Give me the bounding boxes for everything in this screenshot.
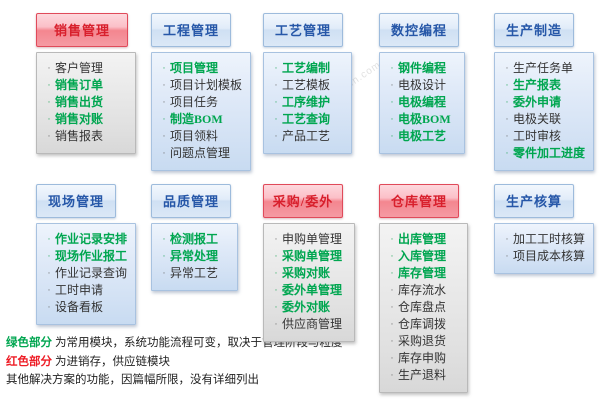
bullet-icon: · — [158, 64, 170, 73]
list-item[interactable]: ·作业记录查询 — [43, 265, 129, 282]
list-item-label: 异常处理 — [170, 250, 231, 262]
list-item-label: 电极工艺 — [398, 130, 458, 142]
bullet-icon: · — [158, 81, 170, 90]
list-item-label: 生产任务单 — [513, 62, 587, 74]
module-header-shopfloor[interactable]: 现场管理 — [36, 184, 116, 218]
list-item-label: 生产报表 — [513, 79, 587, 91]
list-item-label: 项目领料 — [170, 130, 244, 142]
list-item[interactable]: ·采购单管理 — [270, 248, 348, 265]
list-item-label: 项目计划模板 — [170, 79, 244, 91]
list-item-label: 客户管理 — [55, 62, 129, 74]
bullet-icon: · — [501, 132, 513, 141]
list-item-label: 仓库盘点 — [398, 301, 461, 313]
module-header-costing[interactable]: 生产核算 — [494, 184, 574, 218]
bullet-icon: · — [158, 149, 170, 158]
list-item[interactable]: ·生产退料 — [386, 367, 461, 384]
list-item-label: 零件加工进度 — [513, 147, 587, 159]
module-header-manufacturing[interactable]: 生产制造 — [494, 13, 574, 47]
bullet-icon: · — [270, 320, 282, 329]
list-item-label: 生产退料 — [398, 369, 461, 381]
module-sales: 销售管理·客户管理·销售订单·销售出货·销售对账·销售报表 — [36, 13, 136, 154]
bullet-icon: · — [43, 286, 55, 295]
list-item[interactable]: ·委外申请 — [501, 94, 587, 111]
module-body-purchasing: ·申购单管理·采购单管理·采购对账·委外单管理·委外对账·供应商管理 — [263, 223, 355, 342]
list-item-label: 工艺模板 — [282, 79, 345, 91]
list-item-label: 电极编程 — [398, 96, 458, 108]
bullet-icon: · — [386, 303, 398, 312]
bullet-icon: · — [386, 98, 398, 107]
bullet-icon: · — [501, 149, 513, 158]
bullet-icon: · — [158, 269, 170, 278]
bullet-icon: · — [386, 64, 398, 73]
module-body-manufacturing: ·生产任务单·生产报表·委外申请·电极关联·工时审核·零件加工进度 — [494, 52, 594, 171]
list-item[interactable]: ·作业记录安排 — [43, 231, 129, 248]
module-warehouse: 仓库管理·出库管理·入库管理·库存管理·库存流水·仓库盘点·仓库调拨·采购退货·… — [379, 184, 468, 393]
module-header-engineering[interactable]: 工程管理 — [151, 13, 231, 47]
list-item[interactable]: ·委外单管理 — [270, 282, 348, 299]
list-item[interactable]: ·销售订单 — [43, 77, 129, 94]
list-item[interactable]: ·电极关联 — [501, 111, 587, 128]
module-cnc: 数控编程·钢件编程·电极设计·电极编程·电极BOM·电极工艺 — [379, 13, 465, 154]
list-item[interactable]: ·检测报工 — [158, 231, 231, 248]
bullet-icon: · — [501, 64, 513, 73]
bullet-icon: · — [270, 286, 282, 295]
list-item[interactable]: ·工时申请 — [43, 282, 129, 299]
list-item-label: 项目任务 — [170, 96, 244, 108]
list-item[interactable]: ·出库管理 — [386, 231, 461, 248]
legend-key: 绿色部分 — [6, 338, 52, 350]
list-item[interactable]: ·电极BOM — [386, 111, 458, 128]
list-item-label: 电极关联 — [513, 113, 587, 125]
list-item[interactable]: ·库存管理 — [386, 265, 461, 282]
list-item-label: 检测报工 — [170, 233, 231, 245]
bullet-icon: · — [43, 252, 55, 261]
module-process: 工艺管理·工艺编制·工艺模板·工序维护·工艺查询·产品工艺 — [263, 13, 352, 154]
legend-text: 为进销存，供应链模块 — [55, 357, 170, 369]
module-manufacturing: 生产制造·生产任务单·生产报表·委外申请·电极关联·工时审核·零件加工进度 — [494, 13, 594, 171]
module-body-warehouse: ·出库管理·入库管理·库存管理·库存流水·仓库盘点·仓库调拨·采购退货·库存申购… — [379, 223, 468, 393]
list-item-label: 库存流水 — [398, 284, 461, 296]
bullet-icon: · — [158, 115, 170, 124]
list-item[interactable]: ·仓库盘点 — [386, 299, 461, 316]
list-item-label: 产品工艺 — [282, 130, 345, 142]
module-header-purchasing[interactable]: 采购/委外 — [263, 184, 343, 218]
list-item-label: 设备看板 — [55, 301, 129, 313]
list-item-label: 项目成本核算 — [513, 250, 587, 262]
bullet-icon: · — [43, 235, 55, 244]
list-item-label: 库存管理 — [398, 267, 461, 279]
list-item-label: 销售订单 — [55, 79, 129, 91]
bullet-icon: · — [43, 98, 55, 107]
list-item[interactable]: ·工艺编制 — [270, 60, 345, 77]
list-item[interactable]: ·工艺查询 — [270, 111, 345, 128]
list-item-label: 仓库调拨 — [398, 318, 461, 330]
list-item-label: 委外单管理 — [282, 284, 348, 296]
bullet-icon: · — [270, 115, 282, 124]
module-purchasing: 采购/委外·申购单管理·采购单管理·采购对账·委外单管理·委外对账·供应商管理 — [263, 184, 355, 342]
list-item[interactable]: ·销售出货 — [43, 94, 129, 111]
list-item[interactable]: ·工艺模板 — [270, 77, 345, 94]
list-item-label: 采购对账 — [282, 267, 348, 279]
bullet-icon: · — [386, 81, 398, 90]
module-header-warehouse[interactable]: 仓库管理 — [379, 184, 459, 218]
list-item-label: 工序维护 — [282, 96, 345, 108]
bullet-icon: · — [158, 132, 170, 141]
list-item-label: 异常工艺 — [170, 267, 231, 279]
list-item-label: 销售对账 — [55, 113, 129, 125]
module-body-shopfloor: ·作业记录安排·现场作业报工·作业记录查询·工时申请·设备看板 — [36, 223, 136, 325]
list-item[interactable]: ·入库管理 — [386, 248, 461, 265]
bullet-icon: · — [270, 252, 282, 261]
list-item-label: 入库管理 — [398, 250, 461, 262]
module-header-sales[interactable]: 销售管理 — [36, 13, 128, 47]
module-quality: 品质管理·检测报工·异常处理·异常工艺 — [151, 184, 238, 291]
bullet-icon: · — [43, 64, 55, 73]
bullet-icon: · — [501, 81, 513, 90]
diagram-canvas: 云易云软件yun.com 销售管理·客户管理·销售订单·销售出货·销售对账·销售… — [0, 0, 600, 400]
bullet-icon: · — [158, 252, 170, 261]
list-item-label: 作业记录查询 — [55, 267, 129, 279]
list-item-label: 加工工时核算 — [513, 233, 587, 245]
bullet-icon: · — [43, 132, 55, 141]
bullet-icon: · — [270, 235, 282, 244]
list-item[interactable]: ·项目成本核算 — [501, 248, 587, 265]
list-item-label: 库存申购 — [398, 352, 461, 364]
list-item[interactable]: ·项目管理 — [158, 60, 244, 77]
list-item[interactable]: ·客户管理 — [43, 60, 129, 77]
module-shopfloor: 现场管理·作业记录安排·现场作业报工·作业记录查询·工时申请·设备看板 — [36, 184, 136, 325]
list-item-label: 现场作业报工 — [55, 250, 129, 262]
list-item[interactable]: ·供应商管理 — [270, 316, 348, 333]
bullet-icon: · — [270, 269, 282, 278]
bullet-icon: · — [270, 81, 282, 90]
bullet-icon: · — [270, 98, 282, 107]
list-item[interactable]: ·采购对账 — [270, 265, 348, 282]
bullet-icon: · — [501, 252, 513, 261]
module-header-cnc[interactable]: 数控编程 — [379, 13, 459, 47]
module-engineering: 工程管理·项目管理·项目计划模板·项目任务·制造BOM·项目领料·问题点管理 — [151, 13, 251, 171]
list-item-label: 销售出货 — [55, 96, 129, 108]
bullet-icon: · — [386, 286, 398, 295]
list-item-label: 委外对账 — [282, 301, 348, 313]
list-item[interactable]: ·销售对账 — [43, 111, 129, 128]
list-item[interactable]: ·仓库调拨 — [386, 316, 461, 333]
list-item-label: 委外申请 — [513, 96, 587, 108]
bullet-icon: · — [158, 98, 170, 107]
list-item[interactable]: ·工序维护 — [270, 94, 345, 111]
list-item-label: 申购单管理 — [282, 233, 348, 245]
bullet-icon: · — [386, 235, 398, 244]
list-item[interactable]: ·加工工时核算 — [501, 231, 587, 248]
module-body-costing: ·加工工时核算·项目成本核算 — [494, 223, 594, 274]
bullet-icon: · — [386, 269, 398, 278]
list-item[interactable]: ·零件加工进度 — [501, 145, 587, 162]
bullet-icon: · — [386, 371, 398, 380]
module-body-process: ·工艺编制·工艺模板·工序维护·工艺查询·产品工艺 — [263, 52, 352, 154]
bullet-icon: · — [386, 337, 398, 346]
bullet-icon: · — [501, 98, 513, 107]
list-item[interactable]: ·电极工艺 — [386, 128, 458, 145]
module-body-engineering: ·项目管理·项目计划模板·项目任务·制造BOM·项目领料·问题点管理 — [151, 52, 251, 171]
list-item[interactable]: ·异常工艺 — [158, 265, 231, 282]
list-item[interactable]: ·采购退货 — [386, 333, 461, 350]
list-item[interactable]: ·钢件编程 — [386, 60, 458, 77]
list-item[interactable]: ·电极设计 — [386, 77, 458, 94]
list-item-label: 工艺编制 — [282, 62, 345, 74]
list-item[interactable]: ·设备看板 — [43, 299, 129, 316]
module-header-process[interactable]: 工艺管理 — [263, 13, 343, 47]
list-item[interactable]: ·问题点管理 — [158, 145, 244, 162]
module-costing: 生产核算·加工工时核算·项目成本核算 — [494, 184, 594, 274]
list-item[interactable]: ·项目领料 — [158, 128, 244, 145]
bullet-icon: · — [270, 303, 282, 312]
list-item[interactable]: ·现场作业报工 — [43, 248, 129, 265]
bullet-icon: · — [270, 64, 282, 73]
bullet-icon: · — [158, 235, 170, 244]
bullet-icon: · — [43, 269, 55, 278]
list-item-label: 问题点管理 — [170, 147, 244, 159]
list-item-label: 销售报表 — [55, 130, 129, 142]
legend-text: 其他解决方案的功能，因篇幅所限，没有详细列出 — [6, 375, 259, 387]
list-item-label: 工时申请 — [55, 284, 129, 296]
list-item[interactable]: ·项目任务 — [158, 94, 244, 111]
bullet-icon: · — [386, 252, 398, 261]
bullet-icon: · — [386, 132, 398, 141]
list-item-label: 项目管理 — [170, 62, 244, 74]
list-item[interactable]: ·销售报表 — [43, 128, 129, 145]
bullet-icon: · — [270, 132, 282, 141]
module-body-cnc: ·钢件编程·电极设计·电极编程·电极BOM·电极工艺 — [379, 52, 465, 154]
list-item-label: 钢件编程 — [398, 62, 458, 74]
bullet-icon: · — [386, 320, 398, 329]
bullet-icon: · — [501, 115, 513, 124]
list-item[interactable]: ·委外对账 — [270, 299, 348, 316]
list-item-label: 工艺查询 — [282, 113, 345, 125]
list-item-label: 工时审核 — [513, 130, 587, 142]
list-item-label: 电极设计 — [398, 79, 458, 91]
list-item[interactable]: ·库存流水 — [386, 282, 461, 299]
bullet-icon: · — [43, 115, 55, 124]
bullet-icon: · — [43, 81, 55, 90]
list-item-label: 作业记录安排 — [55, 233, 129, 245]
module-header-quality[interactable]: 品质管理 — [151, 184, 231, 218]
list-item-label: 采购退货 — [398, 335, 461, 347]
list-item[interactable]: ·异常处理 — [158, 248, 231, 265]
list-item[interactable]: ·生产报表 — [501, 77, 587, 94]
list-item[interactable]: ·库存申购 — [386, 350, 461, 367]
bullet-icon: · — [43, 303, 55, 312]
list-item-label: 制造BOM — [170, 113, 244, 125]
legend-key: 红色部分 — [6, 357, 52, 369]
list-item[interactable]: ·生产任务单 — [501, 60, 587, 77]
list-item-label: 供应商管理 — [282, 318, 348, 330]
list-item[interactable]: ·产品工艺 — [270, 128, 345, 145]
list-item[interactable]: ·申购单管理 — [270, 231, 348, 248]
module-body-quality: ·检测报工·异常处理·异常工艺 — [151, 223, 238, 291]
bullet-icon: · — [386, 354, 398, 363]
list-item-label: 电极BOM — [398, 113, 458, 125]
list-item[interactable]: ·电极编程 — [386, 94, 458, 111]
bullet-icon: · — [501, 235, 513, 244]
list-item-label: 出库管理 — [398, 233, 461, 245]
module-body-sales: ·客户管理·销售订单·销售出货·销售对账·销售报表 — [36, 52, 136, 154]
list-item[interactable]: ·制造BOM — [158, 111, 244, 128]
list-item[interactable]: ·项目计划模板 — [158, 77, 244, 94]
bullet-icon: · — [386, 115, 398, 124]
list-item[interactable]: ·工时审核 — [501, 128, 587, 145]
list-item-label: 采购单管理 — [282, 250, 348, 262]
